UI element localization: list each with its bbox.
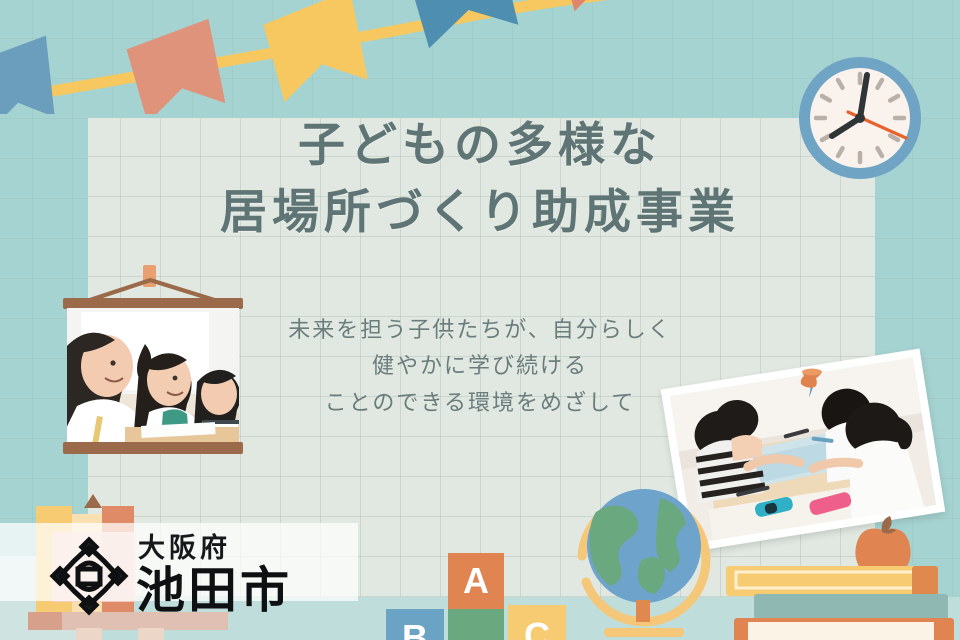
prefecture-name: 大阪府	[138, 535, 292, 562]
block-a: A	[448, 553, 504, 609]
city-logo: 大阪府 池田市	[48, 528, 348, 624]
ikeda-city-emblem-icon	[48, 535, 130, 617]
book-stack-right	[726, 508, 960, 640]
poster-title: 子どもの多様な 居場所づくり助成事業	[0, 112, 960, 245]
abc-blocks: A B C	[420, 553, 600, 640]
block-c-letter-wrap: C	[508, 605, 566, 640]
block-green	[448, 609, 504, 640]
block-b: B	[386, 609, 444, 640]
photo-left-image	[67, 308, 239, 443]
title-line-2: 居場所づくり助成事業	[0, 179, 960, 246]
photo-hanger-bottom-bar	[63, 442, 243, 454]
pushpin-icon	[795, 365, 829, 399]
hanging-photo-left	[55, 265, 250, 465]
poster-canvas: 子どもの多様な 居場所づくり助成事業 未来を担う子供たちが、自分らしく 健やかに…	[0, 0, 960, 640]
title-line-1: 子どもの多様な	[0, 112, 960, 179]
bunting-decoration	[0, 0, 750, 114]
city-logo-text: 大阪府 池田市	[136, 535, 292, 618]
city-name: 池田市	[136, 565, 292, 618]
